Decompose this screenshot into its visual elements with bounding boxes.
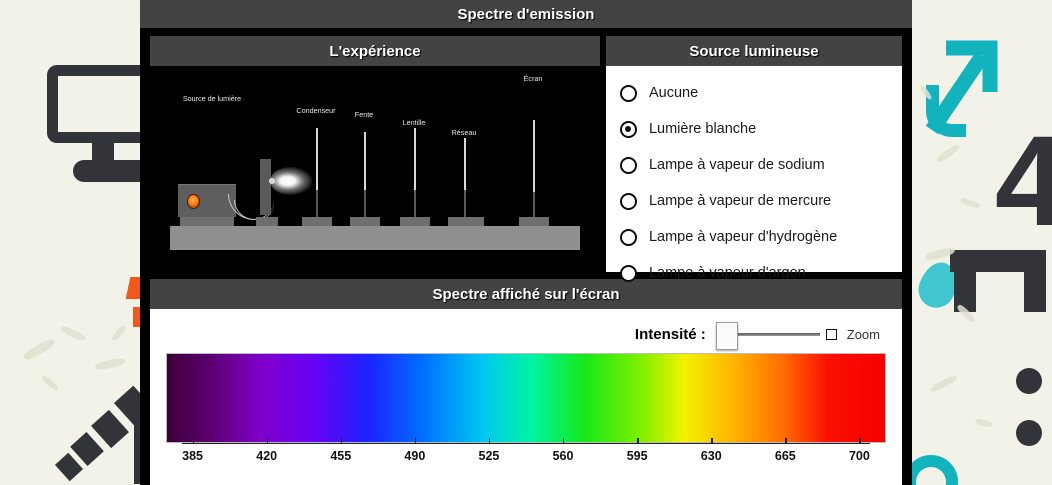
screen-rod[interactable]	[533, 191, 535, 217]
axis-tick	[859, 438, 860, 444]
condenser-foot	[302, 217, 332, 226]
axis-tick	[563, 438, 564, 444]
axis-tick	[341, 438, 342, 444]
label-fente: Fente	[355, 110, 373, 119]
radio-option-lumiere-blanche[interactable]: Lumière blanche	[620, 111, 902, 147]
power-supply[interactable]	[178, 184, 236, 217]
radio-label-aucune: Aucune	[649, 85, 698, 101]
radio-option-sodium[interactable]: Lampe à vapeur de sodium	[620, 147, 902, 183]
axis-tick-label: 700	[849, 449, 870, 463]
light-source-lamp[interactable]	[260, 159, 271, 215]
axis-tick-label: 525	[479, 449, 500, 463]
axis-tick-label: 630	[701, 449, 722, 463]
source-radio-group: Aucune Lumière blanche Lampe à vapeur de…	[606, 66, 902, 272]
axis-tick	[785, 438, 786, 444]
intensity-label: Intensité :	[635, 326, 706, 343]
radio-icon-sodium[interactable]	[620, 157, 637, 174]
axis-tick-label: 420	[256, 449, 277, 463]
axis-tick-label: 665	[775, 449, 796, 463]
axis-tick	[267, 438, 268, 444]
bracket-bar-left	[954, 250, 976, 312]
optical-bench	[170, 226, 580, 250]
screen-element[interactable]	[533, 120, 535, 192]
radio-option-mercure[interactable]: Lampe à vapeur de mercure	[620, 183, 902, 219]
label-lentille: Lentille	[403, 118, 426, 127]
axis-tick-label: 490	[404, 449, 425, 463]
axis-tick	[637, 438, 638, 444]
spectrum-controls: Intensité : Zoom	[150, 309, 902, 349]
spectrum-graph: 385420455490525560595630665700	[166, 353, 886, 479]
experiment-canvas[interactable]: Source de lumière Condenseur Fente Lenti…	[150, 66, 600, 272]
radio-icon-aucune[interactable]	[620, 85, 637, 102]
lens-foot	[400, 217, 430, 226]
label-reseau: Réseau	[452, 128, 477, 137]
axis-tick-label: 455	[330, 449, 351, 463]
lens-rod[interactable]	[414, 189, 416, 217]
numeral-four-decoration: 4	[995, 118, 1052, 246]
source-panel-title: Source lumineuse	[689, 43, 818, 60]
radio-label-mercure: Lampe à vapeur de mercure	[649, 193, 831, 209]
spectrum-panel-header: Spectre affiché sur l'écran	[150, 279, 902, 309]
axis-line	[182, 443, 870, 444]
radio-icon-lumiere-blanche[interactable]	[620, 121, 637, 138]
axis-tick	[489, 438, 490, 444]
axis-tick	[193, 438, 194, 444]
radio-option-hydrogene[interactable]: Lampe à vapeur d'hydrogène	[620, 219, 902, 255]
power-supply-foot	[180, 217, 234, 226]
grating-element[interactable]	[464, 138, 466, 190]
lamp-foot	[256, 217, 278, 226]
source-panel-header: Source lumineuse	[606, 36, 902, 66]
zoom-label: Zoom	[847, 327, 880, 342]
axis-tick-label: 595	[627, 449, 648, 463]
axis-tick	[711, 438, 712, 444]
grating-foot	[448, 217, 484, 226]
grating-rod[interactable]	[464, 189, 466, 217]
radio-icon-argon[interactable]	[620, 265, 637, 282]
lens-element[interactable]	[414, 128, 416, 190]
condenser-rod[interactable]	[316, 189, 318, 217]
experiment-panel-title: L'expérience	[329, 43, 420, 60]
source-panel: Source lumineuse Aucune Lumière blanche …	[606, 36, 902, 272]
radio-label-hydrogene: Lampe à vapeur d'hydrogène	[649, 229, 837, 245]
power-knob-icon[interactable]	[187, 194, 200, 209]
radio-label-lumiere-blanche: Lumière blanche	[649, 121, 756, 137]
radio-icon-hydrogene[interactable]	[620, 229, 637, 246]
teal-ring-icon	[904, 455, 958, 485]
intensity-slider[interactable]	[716, 321, 816, 347]
spectrum-panel: Spectre affiché sur l'écran Intensité : …	[150, 279, 902, 485]
label-condenseur: Condenseur	[296, 106, 335, 115]
window-titlebar: Spectre d'emission	[140, 0, 912, 28]
spectrum-band[interactable]	[166, 353, 886, 443]
label-source-de-lumiere: Source de lumière	[183, 94, 241, 103]
slit-rod[interactable]	[364, 189, 366, 217]
page-title: Spectre d'emission	[458, 6, 595, 23]
experiment-panel: L'expérience	[150, 36, 600, 272]
slit-foot	[350, 217, 380, 226]
wavelength-axis: 385420455490525560595630665700	[182, 443, 870, 479]
bracket-bar-right	[1024, 250, 1046, 312]
experiment-panel-header: L'expérience	[150, 36, 600, 66]
radio-icon-mercure[interactable]	[620, 193, 637, 210]
screen-foot	[519, 217, 549, 226]
decor-dot-two	[1016, 420, 1042, 446]
intensity-slider-track[interactable]	[730, 333, 820, 336]
radio-option-aucune[interactable]: Aucune	[620, 75, 902, 111]
axis-tick-label: 385	[182, 449, 203, 463]
axis-tick	[415, 438, 416, 444]
top-row: L'expérience	[140, 28, 912, 272]
axis-tick-label: 560	[553, 449, 574, 463]
application-window: Spectre d'emission L'expérience	[140, 0, 912, 485]
radio-label-sodium: Lampe à vapeur de sodium	[649, 157, 825, 173]
slit-element[interactable]	[364, 132, 366, 190]
intensity-slider-handle[interactable]	[716, 322, 738, 350]
spectrum-body: Intensité : Zoom 38542045549052556059563…	[150, 309, 902, 485]
condenser-element[interactable]	[316, 128, 318, 190]
spectrum-panel-title: Spectre affiché sur l'écran	[433, 286, 620, 303]
decor-dot-one	[1016, 368, 1042, 394]
lamp-glow	[270, 167, 312, 195]
label-ecran: Écran	[524, 74, 543, 83]
zoom-checkbox[interactable]	[826, 329, 837, 340]
